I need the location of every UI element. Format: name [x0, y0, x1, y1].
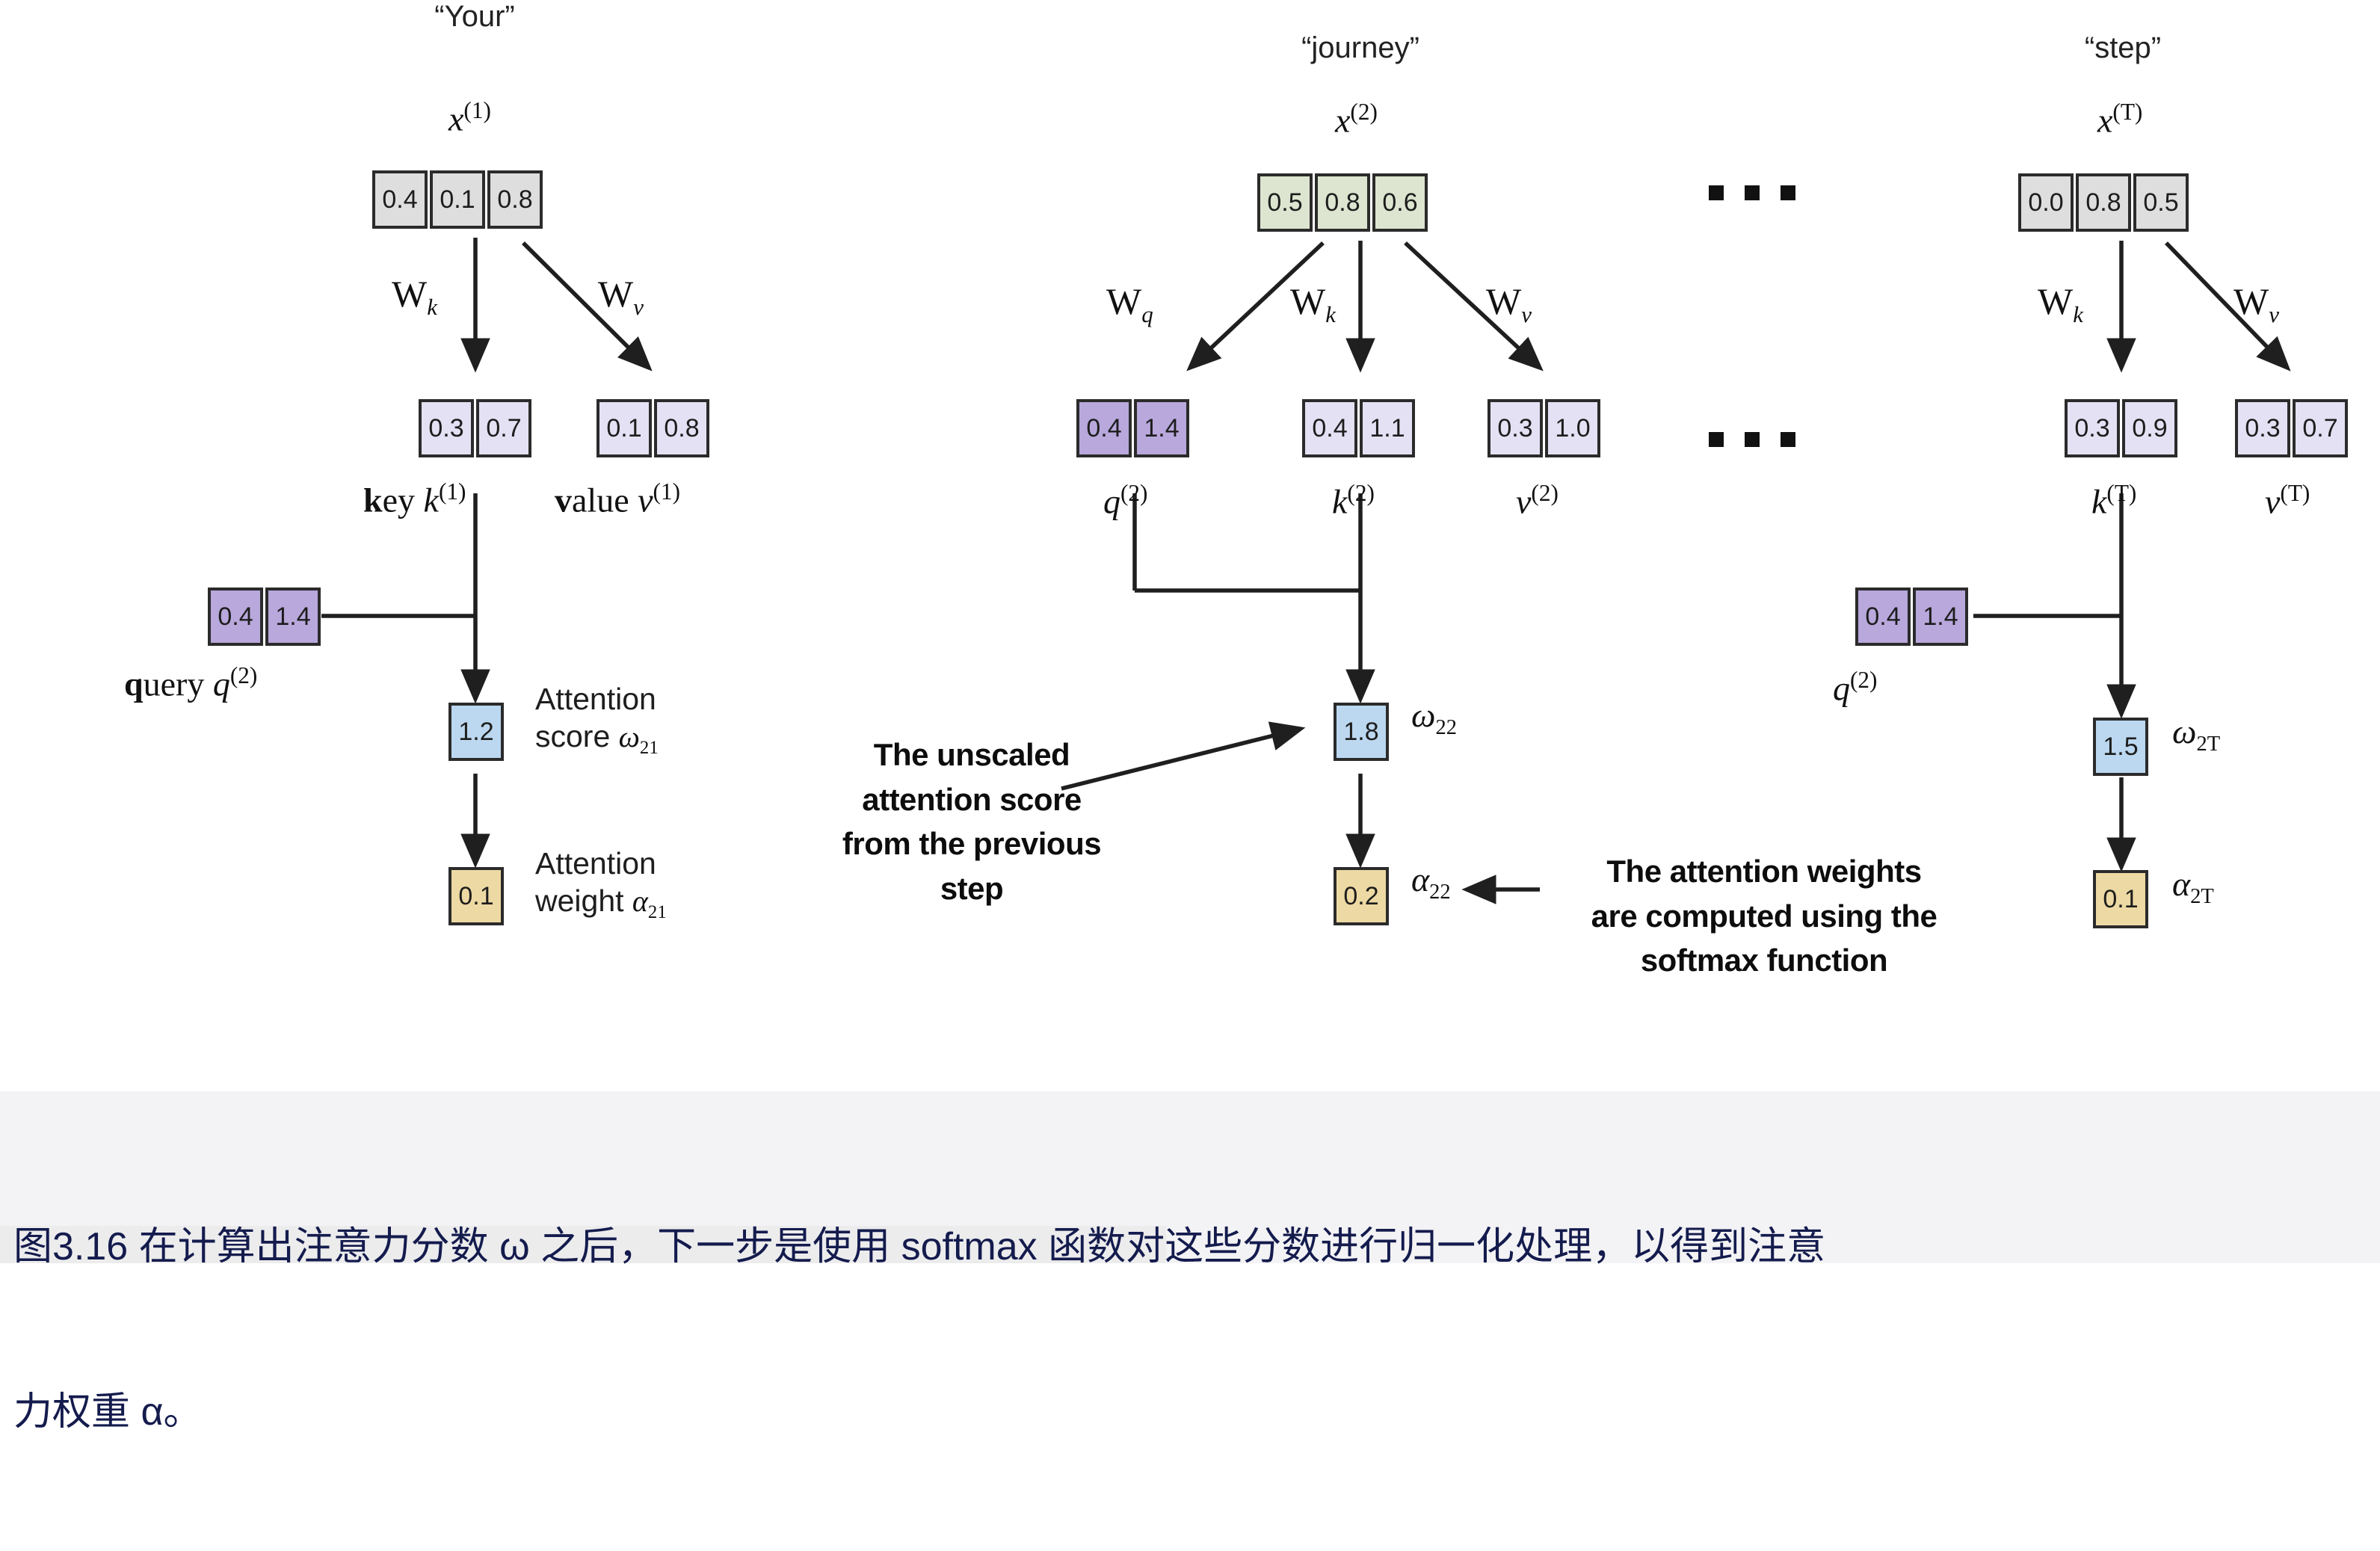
value-label-3: v(T) [2265, 480, 2310, 521]
vector-cell: 0.4 [1855, 588, 1911, 646]
vector-cell: 0.5 [1257, 173, 1313, 232]
query-vector-2: 0.4 1.4 [1076, 399, 1189, 457]
ellipsis-top [1709, 185, 1795, 200]
weight-label-line1: Attention [535, 846, 656, 881]
weight-matrix-wk-1: Wk [392, 272, 437, 321]
vector-cell: 0.8 [2076, 173, 2131, 232]
score-cell: 1.2 [448, 703, 504, 761]
vector-cell: 1.4 [265, 588, 321, 646]
attention-score-label-1: Attention score ω21 [535, 680, 659, 759]
vector-cell: 0.0 [2018, 173, 2074, 232]
attention-score-box-2: 1.8 [1334, 703, 1389, 761]
vector-cell: 1.0 [1545, 399, 1600, 457]
figure-canvas: “Your” x(1) 0.4 0.1 0.8 Wk Wv 0.3 0.7 ke… [0, 0, 2380, 1263]
score-label-line2: score [535, 719, 610, 753]
annotation-line: attention score [822, 777, 1121, 822]
weight-matrix-wv-1: Wv [598, 272, 644, 321]
weight-matrix-wk-3: Wk [2038, 280, 2083, 328]
ellipsis-bottom [1709, 432, 1795, 447]
weight-matrix-wv-3: Wv [2233, 280, 2279, 328]
vector-cell: 0.4 [208, 588, 263, 646]
query-label-1: query q(2) [124, 662, 257, 703]
value-label-2: v(2) [1516, 480, 1559, 521]
query-label-2: q(2) [1103, 480, 1147, 521]
value-label-1: value v(1) [555, 478, 680, 519]
attention-score-box-1: 1.2 [448, 703, 504, 761]
weight-matrix-wq-2: Wq [1106, 280, 1153, 328]
ellipsis-dot [1745, 185, 1760, 200]
token-label-3: “step” [2018, 31, 2228, 65]
vector-cell: 0.7 [476, 399, 531, 457]
vector-cell: 0.6 [1372, 173, 1428, 232]
annotation-line: softmax function [1555, 938, 1973, 983]
annotation-line: The unscaled [822, 733, 1121, 777]
value-vector-2: 0.3 1.0 [1487, 399, 1600, 457]
caption-line-2: 力权重 α。 [13, 1385, 2301, 1440]
value-vector-3: 0.3 0.7 [2235, 399, 2348, 457]
query-label-3: q(2) [1833, 667, 1877, 708]
vector-cell: 0.1 [596, 399, 652, 457]
ellipsis-dot [1745, 432, 1760, 447]
annotation-line: are computed using the [1555, 894, 1973, 939]
score-label-line1: Attention [535, 682, 656, 716]
input-vector-1: 0.4 0.1 0.8 [372, 170, 543, 229]
weight-cell: 0.2 [1334, 867, 1389, 925]
caption-line-1: 图3.16 在计算出注意力分数 ω 之后，下一步是使用 softmax 函数对这… [13, 1220, 2301, 1275]
ellipsis-dot [1709, 432, 1724, 447]
vector-cell: 1.4 [1134, 399, 1189, 457]
attention-score-symbol-3: ω2T [2172, 712, 2220, 756]
input-vector-2: 0.5 0.8 0.6 [1257, 173, 1428, 232]
key-label-1: key k(1) [363, 478, 466, 519]
attention-weight-box-1: 0.1 [448, 867, 504, 925]
input-symbol-2: x(2) [1335, 99, 1378, 140]
key-vector-1: 0.3 0.7 [419, 399, 531, 457]
figure-caption: 图3.16 在计算出注意力分数 ω 之后，下一步是使用 softmax 函数对这… [13, 1109, 2301, 1551]
vector-cell: 0.3 [2065, 399, 2120, 457]
vector-cell: 0.3 [2235, 399, 2290, 457]
query-vector-3: 0.4 1.4 [1855, 588, 1968, 646]
annotation-line: step [822, 866, 1121, 911]
ellipsis-dot [1781, 432, 1795, 447]
annotation-line: from the previous [822, 821, 1121, 866]
vector-cell: 0.7 [2293, 399, 2348, 457]
attention-weight-symbol-2: α22 [1411, 860, 1451, 904]
attention-weight-symbol-3: α2T [2172, 864, 2214, 909]
vector-cell: 1.4 [1913, 588, 1968, 646]
attention-score-symbol-2: ω22 [1411, 695, 1457, 740]
attention-weight-box-3: 0.1 [2093, 870, 2148, 928]
weight-matrix-wv-2: Wv [1486, 280, 1532, 328]
input-vector-3: 0.0 0.8 0.5 [2018, 173, 2189, 232]
annotation-attention-weights: The attention weights are computed using… [1555, 849, 1973, 983]
score-cell: 1.5 [2093, 718, 2148, 776]
vector-cell: 0.3 [419, 399, 474, 457]
token-label-1: “Your” [374, 0, 576, 34]
input-symbol-1: x(1) [448, 97, 491, 138]
vector-cell: 1.1 [1360, 399, 1415, 457]
vector-cell: 0.5 [2133, 173, 2189, 232]
key-vector-2: 0.4 1.1 [1302, 399, 1415, 457]
vector-cell: 0.8 [1315, 173, 1370, 232]
ellipsis-dot [1709, 185, 1724, 200]
annotation-unscaled-score: The unscaled attention score from the pr… [822, 733, 1121, 911]
key-vector-3: 0.3 0.9 [2065, 399, 2177, 457]
ellipsis-dot [1781, 185, 1795, 200]
token-label-2: “journey” [1256, 31, 1465, 65]
vector-cell: 0.3 [1487, 399, 1543, 457]
score-cell: 1.8 [1334, 703, 1389, 761]
annotation-line: The attention weights [1555, 849, 1973, 894]
key-label-2: k(2) [1332, 480, 1375, 521]
vector-cell: 0.9 [2122, 399, 2177, 457]
weight-cell: 0.1 [2093, 870, 2148, 928]
value-vector-1: 0.1 0.8 [596, 399, 709, 457]
weight-matrix-wk-2: Wk [1290, 280, 1336, 328]
attention-weight-box-2: 0.2 [1334, 867, 1389, 925]
weight-label-line2: weight [535, 884, 624, 918]
vector-cell: 0.1 [430, 170, 485, 229]
vector-cell: 0.4 [1302, 399, 1357, 457]
vector-cell: 0.8 [487, 170, 543, 229]
input-symbol-3: x(T) [2097, 99, 2142, 140]
attention-score-box-3: 1.5 [2093, 718, 2148, 776]
key-label-3: k(T) [2091, 480, 2136, 521]
vector-cell: 0.4 [372, 170, 428, 229]
vector-cell: 0.8 [654, 399, 709, 457]
query-vector-1: 0.4 1.4 [208, 588, 321, 646]
vector-cell: 0.4 [1076, 399, 1132, 457]
weight-cell: 0.1 [448, 867, 504, 925]
attention-weight-label-1: Attention weight α21 [535, 845, 667, 924]
